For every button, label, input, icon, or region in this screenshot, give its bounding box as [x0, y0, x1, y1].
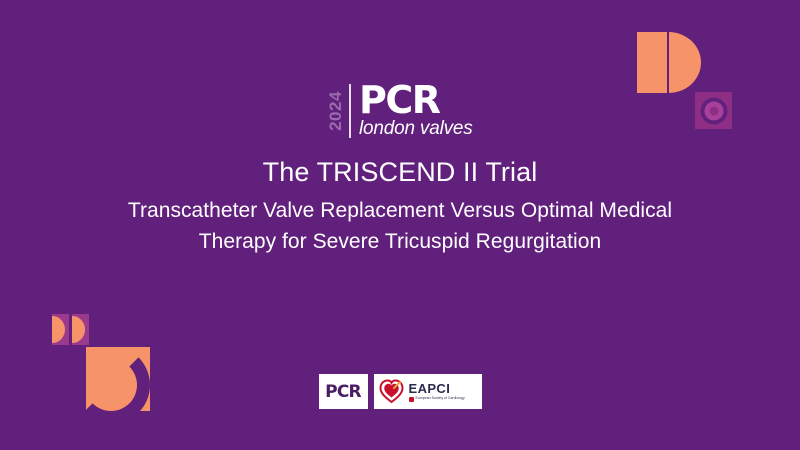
decoration-ring-inner: [709, 106, 718, 115]
footer-logo-eapci-text: EAPCI European Society of Cardiology: [409, 382, 465, 402]
brand-logo-tagline: london valves: [359, 119, 473, 139]
decoration-orange-rectangle: [637, 32, 668, 93]
brand-logo-wordmark: PCR london valves: [359, 82, 473, 140]
footer-logo-row: PCR EAPCI European Society of Cardiology: [0, 374, 800, 409]
brand-logo-pcr-london-valves: 2024 PCR london valves: [325, 82, 473, 140]
brand-logo-year-label: 2024: [326, 91, 346, 131]
brand-logo-year: 2024: [325, 82, 347, 140]
page-subtitle: Transcatheter Valve Replacement Versus O…: [0, 195, 800, 258]
page-subtitle-line-2: Therapy for Severe Tricuspid Regurgitati…: [0, 226, 800, 258]
footer-logo-eapci-mark: EAPCI: [409, 382, 465, 395]
footer-logo-eapci-tagline: European Society of Cardiology: [416, 397, 465, 400]
page-subtitle-line-1: Transcatheter Valve Replacement Versus O…: [0, 195, 800, 227]
decoration-top-right-rings: [695, 92, 732, 129]
brand-logo-divider: [349, 84, 351, 138]
decoration-bottom-left-pair: [52, 314, 90, 345]
footer-logo-eapci: EAPCI European Society of Cardiology: [374, 374, 482, 409]
heart-catheter-icon: [379, 379, 404, 404]
footer-logo-pcr: PCR: [319, 374, 368, 409]
decoration-halfcircle-cell-1: [52, 314, 69, 345]
decoration-top-right-bracket: [637, 32, 701, 93]
decoration-halfcircle-cell-2: [72, 314, 89, 345]
page-title: The TRISCEND II Trial: [0, 156, 800, 190]
esc-badge-icon: [409, 397, 414, 402]
footer-logo-pcr-mark: PCR: [325, 382, 361, 402]
decoration-divider-gap: [667, 32, 669, 93]
brand-logo-name: PCR: [359, 83, 473, 118]
decoration-orange-halfcircle: [668, 32, 701, 93]
footer-logo-eapci-tagline-row: European Society of Cardiology: [409, 397, 465, 402]
slide-canvas: 2024 PCR london valves The TRISCEND II T…: [0, 0, 800, 450]
title-block: The TRISCEND II Trial Transcatheter Valv…: [0, 156, 800, 258]
